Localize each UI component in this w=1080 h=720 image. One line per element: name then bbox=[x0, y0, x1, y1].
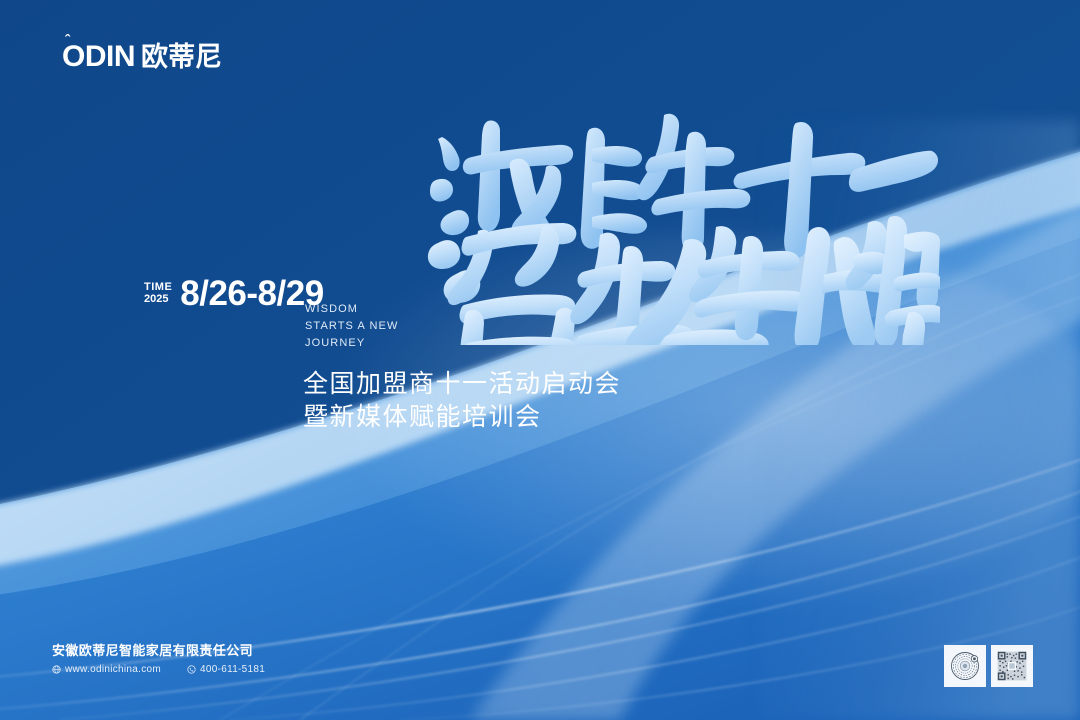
event-subtitle: 全国加盟商十一活动启动会 暨新媒体赋能培训会 bbox=[303, 368, 621, 434]
english-tagline: WISDOM STARTS A NEW JOURNEY bbox=[305, 301, 398, 352]
circumflex-accent-icon: ˆ bbox=[65, 33, 70, 48]
company-name: 安徽欧蒂尼智能家居有限责任公司 bbox=[52, 642, 265, 660]
website-item[interactable]: www.odinichina.com bbox=[52, 664, 161, 675]
website-text: www.odinichina.com bbox=[65, 664, 161, 675]
qr-code-group bbox=[944, 645, 1033, 687]
date-label-year: 2025 bbox=[144, 293, 172, 305]
phone-item[interactable]: 400-611-5181 bbox=[187, 664, 265, 675]
qr-square-code[interactable] bbox=[991, 645, 1033, 687]
date-label-time: TIME bbox=[144, 281, 172, 293]
phone-text: 400-611-5181 bbox=[200, 664, 265, 675]
phone-icon bbox=[187, 665, 196, 674]
logo-wordmark: ˆ ODIN bbox=[62, 42, 135, 72]
date-range: 8/26-8/29 bbox=[180, 277, 323, 311]
footer: 安徽欧蒂尼智能家居有限责任公司 www.odinichina.com 400-6… bbox=[52, 642, 265, 675]
logo-letters: ODIN bbox=[62, 40, 135, 73]
subtitle-line-1: 全国加盟商十一活动启动会 bbox=[303, 368, 621, 401]
contact-row: www.odinichina.com 400-611-5181 bbox=[52, 664, 265, 675]
event-poster: ˆ ODIN 欧蒂尼 bbox=[0, 0, 1080, 720]
tagline-line-2: STARTS A NEW bbox=[305, 318, 398, 335]
tagline-line-1: WISDOM bbox=[305, 301, 398, 318]
globe-icon bbox=[52, 665, 61, 674]
event-date: TIME 2025 8/26-8/29 bbox=[144, 277, 324, 311]
logo-chinese-name: 欧蒂尼 bbox=[141, 44, 222, 71]
wechat-round-code[interactable] bbox=[944, 645, 986, 687]
odin-logo[interactable]: ˆ ODIN 欧蒂尼 bbox=[62, 42, 222, 72]
headline-calligraphy bbox=[420, 95, 940, 345]
date-label: TIME 2025 bbox=[144, 277, 172, 305]
subtitle-line-2: 暨新媒体赋能培训会 bbox=[303, 401, 621, 434]
tagline-line-3: JOURNEY bbox=[305, 335, 398, 352]
